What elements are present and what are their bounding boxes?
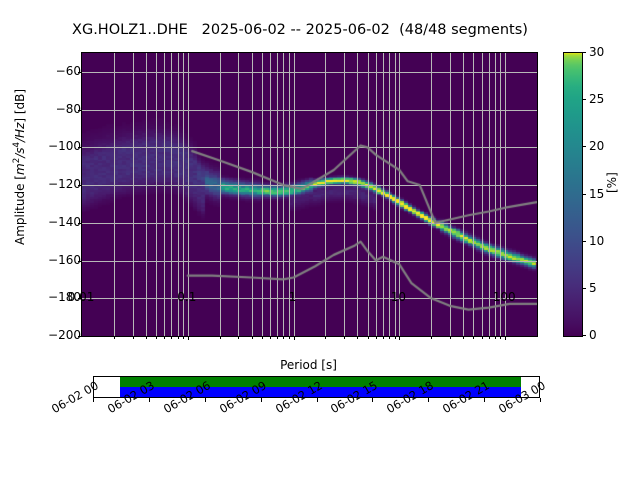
x-tick-minor — [431, 336, 432, 339]
colorbar-tick — [582, 146, 586, 147]
y-tick-label: −60 — [56, 64, 81, 78]
x-tick-label: 0.1 — [177, 290, 196, 304]
x-tick-minor — [376, 336, 377, 339]
coverage-tick — [540, 398, 541, 402]
coverage-tick — [428, 398, 429, 402]
coverage-tick — [149, 398, 150, 402]
x-tick-minor — [463, 336, 464, 339]
x-tick-major — [505, 336, 506, 340]
colorbar-tick-label: 10 — [589, 234, 604, 248]
y-tick-label: −80 — [56, 102, 81, 116]
x-tick-major — [399, 336, 400, 340]
x-tick-minor — [283, 336, 284, 339]
coverage-tick — [93, 398, 94, 402]
x-tick-minor — [277, 336, 278, 339]
x-tick-minor — [262, 336, 263, 339]
x-tick-minor — [473, 336, 474, 339]
mode-curve — [82, 53, 537, 336]
colorbar-tick-label: 30 — [589, 45, 604, 59]
y-tick-label: −100 — [48, 139, 81, 153]
x-tick-minor — [220, 336, 221, 339]
x-tick-minor — [495, 336, 496, 339]
ppsd-axes — [81, 52, 538, 337]
x-tick-minor — [183, 336, 184, 339]
x-tick-minor — [368, 336, 369, 339]
x-tick-label: 10 — [391, 290, 406, 304]
coverage-tick — [484, 398, 485, 402]
x-tick-minor — [500, 336, 501, 339]
colorbar-tick-label: 15 — [589, 187, 604, 201]
colorbar-tick — [582, 335, 586, 336]
y-axis-title-wrap: Amplitude [m2/s4/Hz] [dB] — [18, 52, 32, 335]
x-axis-title: Period [s] — [81, 358, 536, 372]
x-tick-minor — [395, 336, 396, 339]
y-tick-label: −120 — [48, 177, 81, 191]
x-tick-minor — [450, 336, 451, 339]
page-title: XG.HOLZ1..DHE 2025-06-02 -- 2025-06-02 (… — [0, 22, 600, 38]
x-tick-minor — [489, 336, 490, 339]
y-tick-label: −200 — [48, 328, 81, 342]
colorbar-tick-label: 25 — [589, 92, 604, 106]
x-tick-minor — [252, 336, 253, 339]
colorbar-tick — [582, 99, 586, 100]
x-tick-label: 1 — [289, 290, 297, 304]
y-tick-label: −180 — [48, 290, 81, 304]
y-tick-label: −140 — [48, 215, 81, 229]
x-tick-minor — [164, 336, 165, 339]
x-tick-minor — [114, 336, 115, 339]
coverage-tick — [317, 398, 318, 402]
y-axis-title: Amplitude [m2/s4/Hz] [dB] — [12, 89, 27, 245]
colorbar — [563, 52, 583, 337]
x-tick-minor — [133, 336, 134, 339]
x-tick-major — [294, 336, 295, 340]
x-tick-minor — [383, 336, 384, 339]
x-tick-label: 100 — [493, 290, 516, 304]
coverage-tick — [372, 398, 373, 402]
x-tick-minor — [344, 336, 345, 339]
x-tick-minor — [178, 336, 179, 339]
x-tick-minor — [289, 336, 290, 339]
colorbar-tick — [582, 52, 586, 53]
colorbar-tick-label: 0 — [589, 328, 597, 342]
y-tick-label: −160 — [48, 253, 81, 267]
colorbar-tick — [582, 194, 586, 195]
coverage-tick — [261, 398, 262, 402]
x-tick-minor — [146, 336, 147, 339]
x-tick-minor — [270, 336, 271, 339]
x-tick-minor — [156, 336, 157, 339]
colorbar-title: [%] — [605, 172, 619, 193]
x-tick-minor — [482, 336, 483, 339]
colorbar-tick — [582, 288, 586, 289]
x-tick-minor — [357, 336, 358, 339]
x-tick-minor — [238, 336, 239, 339]
x-tick-major — [188, 336, 189, 340]
x-tick-minor — [389, 336, 390, 339]
ppsd-plot-canvas — [82, 53, 537, 336]
colorbar-tick-label: 5 — [589, 281, 597, 295]
x-tick-minor — [171, 336, 172, 339]
colorbar-tick — [582, 241, 586, 242]
colorbar-tick-label: 20 — [589, 139, 604, 153]
x-tick-minor — [325, 336, 326, 339]
ppsd-figure: XG.HOLZ1..DHE 2025-06-02 -- 2025-06-02 (… — [0, 0, 640, 480]
coverage-tick — [205, 398, 206, 402]
